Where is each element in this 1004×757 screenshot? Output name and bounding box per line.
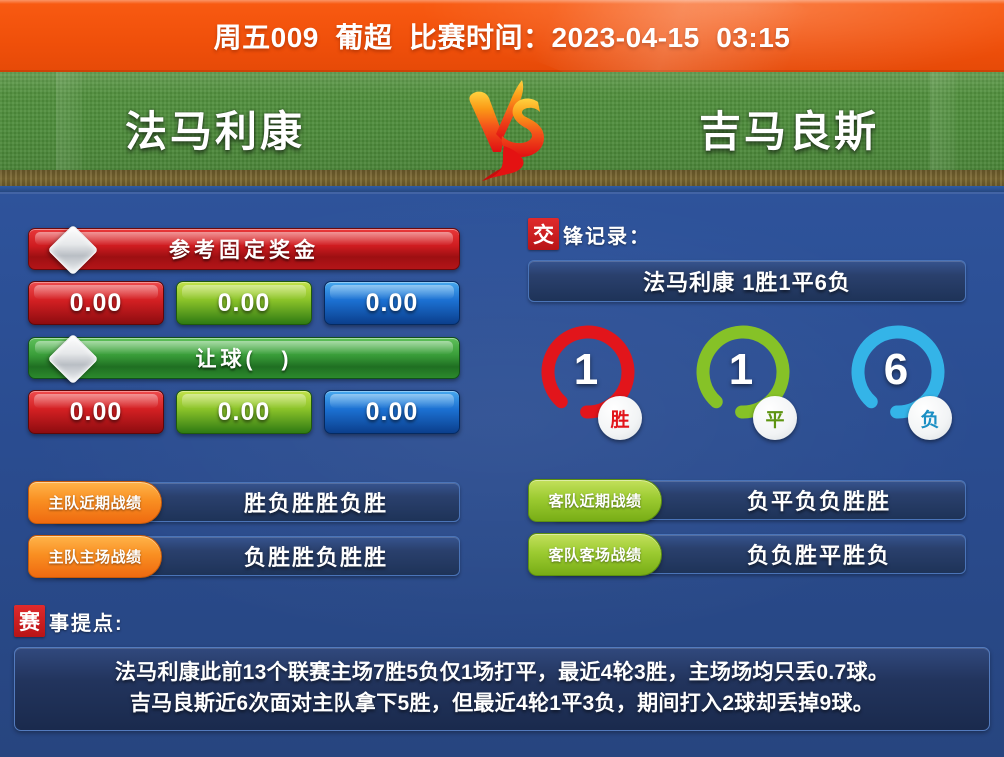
header-bar: 周五009 葡超 比赛时间：2023-04-15 03:15 [0, 0, 1004, 72]
diamond-ornament-icon [48, 334, 99, 385]
ring-loss-badge: 负 [908, 396, 952, 440]
head-to-head-title: 交 锋记录： [528, 218, 966, 250]
away-away-form-value: 负负胜平胜负 [747, 538, 891, 570]
handicap-odds-row: 0.00 0.00 0.00 [28, 390, 460, 434]
home-home-form-value: 负胜胜负胜胜 [244, 540, 388, 572]
tips-title: 赛 事提点: [14, 605, 990, 637]
home-recent-form-value: 胜负胜胜负胜 [244, 486, 388, 518]
home-form-block: 胜负胜胜负胜 主队近期战绩 负胜胜负胜胜 主队主场战绩 [28, 482, 460, 576]
home-recent-form-tab[interactable]: 主队近期战绩 [28, 481, 162, 524]
away-recent-form-row: 负平负负胜胜 客队近期战绩 [528, 480, 966, 520]
ring-loss: 6 负 [846, 320, 958, 442]
tips-line-1: 法马利康此前13个联赛主场7胜5负仅1场打平，最近4轮3胜，主场场均只丢0.7球… [25, 657, 979, 688]
ring-draw: 1 平 [691, 320, 803, 442]
vs-icon [452, 76, 562, 188]
fixed-odd-home[interactable]: 0.00 [28, 281, 164, 325]
h2h-rings: 1 胜 1 平 6 负 [528, 320, 966, 442]
tips-line-2: 吉马良斯近6次面对主队拿下5胜，但最近4轮1平3负，期间打入2球却丢掉9球。 [25, 688, 979, 719]
diamond-ornament-icon [48, 225, 99, 276]
away-recent-form-tab[interactable]: 客队近期战绩 [528, 479, 662, 522]
away-away-form-row: 负负胜平胜负 客队客场战绩 [528, 534, 966, 574]
match-preview-card: 周五009 葡超 比赛时间：2023-04-15 03:15 法马利康 吉马良斯 [0, 0, 1004, 757]
odds-column: 参考固定奖金 0.00 0.00 0.00 让球( ) 0.00 0.00 0.… [28, 228, 460, 590]
ring-draw-badge: 平 [753, 396, 797, 440]
tips-tag-badge: 赛 [14, 605, 45, 637]
tips-body: 法马利康此前13个联赛主场7胜5负仅1场打平，最近4轮3胜，主场场均只丢0.7球… [14, 647, 990, 731]
ring-win-badge: 胜 [598, 396, 642, 440]
handicap-odd-away[interactable]: 0.00 [324, 390, 460, 434]
fixed-odd-draw[interactable]: 0.00 [176, 281, 312, 325]
away-form-block: 负平负负胜胜 客队近期战绩 负负胜平胜负 客队客场战绩 [528, 480, 966, 574]
home-team-name: 法马利康 [0, 72, 460, 184]
h2h-summary-bar: 法马利康 1胜1平6负 [528, 260, 966, 302]
away-recent-form-value: 负平负负胜胜 [747, 484, 891, 516]
fixed-odd-away[interactable]: 0.00 [324, 281, 460, 325]
ring-win: 1 胜 [536, 320, 648, 442]
handicap-header: 让球( ) [28, 337, 460, 379]
h2h-tag-badge: 交 [528, 218, 559, 250]
tips-title-text: 事提点: [49, 607, 124, 636]
head-to-head-column: 交 锋记录： 法马利康 1胜1平6负 1 胜 1 平 [528, 218, 966, 588]
home-home-form-row: 负胜胜负胜胜 主队主场战绩 [28, 536, 460, 576]
away-away-form-tab[interactable]: 客队客场战绩 [528, 533, 662, 576]
home-home-form-tab[interactable]: 主队主场战绩 [28, 535, 162, 578]
fixed-bonus-title: 参考固定奖金 [169, 234, 319, 264]
home-recent-form-row: 胜负胜胜负胜 主队近期战绩 [28, 482, 460, 522]
h2h-title-text: 锋记录： [563, 220, 651, 249]
handicap-odd-draw[interactable]: 0.00 [176, 390, 312, 434]
match-tips-section: 赛 事提点: 法马利康此前13个联赛主场7胜5负仅1场打平，最近4轮3胜，主场场… [14, 605, 990, 731]
fixed-odds-row: 0.00 0.00 0.00 [28, 281, 460, 325]
header-title: 周五009 葡超 比赛时间：2023-04-15 03:15 [0, 0, 1004, 72]
away-team-name: 吉马良斯 [544, 72, 1004, 184]
handicap-odd-home[interactable]: 0.00 [28, 390, 164, 434]
fixed-bonus-header: 参考固定奖金 [28, 228, 460, 270]
handicap-title: 让球( ) [196, 343, 293, 373]
info-board: 参考固定奖金 0.00 0.00 0.00 让球( ) 0.00 0.00 0.… [0, 192, 1004, 757]
